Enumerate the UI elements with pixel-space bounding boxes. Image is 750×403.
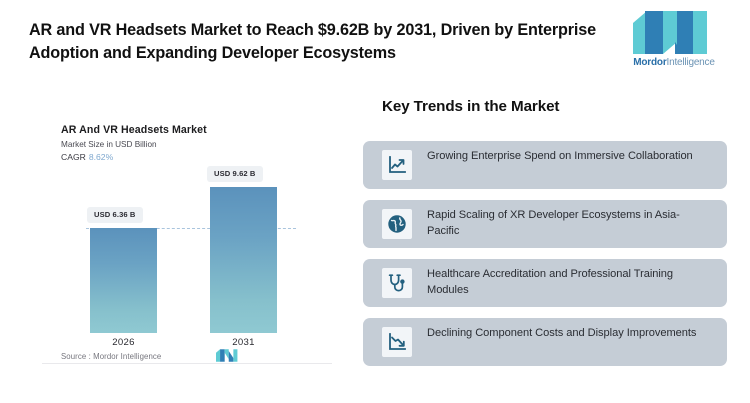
line-chart-down-icon — [382, 327, 412, 357]
brand-wordmark-light: Intelligence — [667, 57, 715, 68]
brand-wordmark: MordorIntelligence — [622, 57, 726, 68]
bar-value-label-2031: USD 9.62 B — [207, 166, 263, 182]
bar-value-label-2026: USD 6.36 B — [87, 207, 143, 223]
trend-card-1[interactable]: Growing Enterprise Spend on Immersive Co… — [363, 141, 727, 189]
page-title: AR and VR Headsets Market to Reach $9.62… — [29, 19, 609, 65]
chart-title: AR And VR Headsets Market — [61, 124, 207, 136]
trend-label-3: Healthcare Accreditation and Professiona… — [427, 267, 712, 299]
trend-card-2[interactable]: Rapid Scaling of XR Developer Ecosystems… — [363, 200, 727, 248]
x-axis-tick-2031: 2031 — [210, 337, 277, 348]
x-axis-tick-2026: 2026 — [90, 337, 157, 348]
trend-card-4[interactable]: Declining Component Costs and Display Im… — [363, 318, 727, 366]
trend-card-3[interactable]: Healthcare Accreditation and Professiona… — [363, 259, 727, 307]
trends-list: Growing Enterprise Spend on Immersive Co… — [363, 141, 727, 377]
globe-icon — [382, 209, 412, 239]
chart-source-label: Source : Mordor Intelligence — [61, 352, 161, 361]
chart-subtitle: Market Size in USD Billion — [61, 140, 157, 149]
stethoscope-icon — [382, 268, 412, 298]
bar-chart-plot: USD 6.36 B USD 9.62 B — [42, 168, 332, 333]
key-trends-panel: Key Trends in the Market Growing Enterpr… — [363, 98, 727, 388]
market-size-chart-card: AR And VR Headsets Market Market Size in… — [42, 108, 332, 364]
chart-cagr-value: 8.62% — [89, 152, 113, 162]
trend-label-2: Rapid Scaling of XR Developer Ecosystems… — [427, 208, 712, 240]
trend-label-1: Growing Enterprise Spend on Immersive Co… — [427, 149, 712, 165]
bar-2026 — [90, 228, 157, 333]
chart-cagr-label: CAGR — [61, 152, 86, 162]
header: AR and VR Headsets Market to Reach $9.62… — [0, 0, 750, 92]
trend-label-4: Declining Component Costs and Display Im… — [427, 326, 712, 342]
trends-heading: Key Trends in the Market — [382, 98, 559, 115]
bar-2031 — [210, 187, 277, 333]
chart-cagr: CAGR8.62% — [61, 152, 113, 162]
mordor-mark-icon — [633, 11, 709, 54]
mordor-mark-icon — [216, 349, 238, 362]
line-chart-up-icon — [382, 150, 412, 180]
brand-wordmark-bold: Mordor — [633, 57, 666, 68]
brand-logo: MordorIntelligence — [622, 11, 726, 73]
